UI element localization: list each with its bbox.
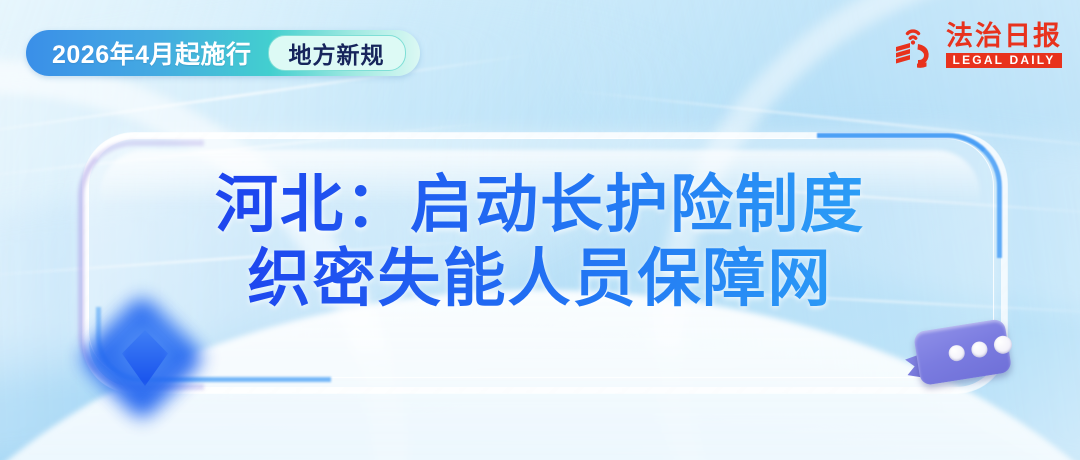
legal-daily-logo: 法治日报 LEGAL DAILY [890, 20, 1062, 70]
effective-date-pill: 2026年4月起施行 地方新规 [26, 30, 420, 76]
logo-chinese-name: 法治日报 [946, 23, 1062, 50]
effective-date-label: 2026年4月起施行 [52, 35, 252, 71]
logo-text-block: 法治日报 LEGAL DAILY [946, 23, 1062, 68]
legal-daily-book-signal-icon [890, 20, 940, 70]
news-banner: 2026年4月起施行 地方新规 法治日报 [0, 0, 1080, 460]
chat-chip-dot-2 [970, 340, 988, 358]
chat-chip-dot-1 [948, 344, 966, 362]
glass-frame-highlight [100, 150, 980, 206]
category-label: 地方新规 [289, 36, 385, 70]
category-capsule: 地方新规 [268, 35, 406, 71]
logo-english-name: LEGAL DAILY [946, 53, 1062, 68]
